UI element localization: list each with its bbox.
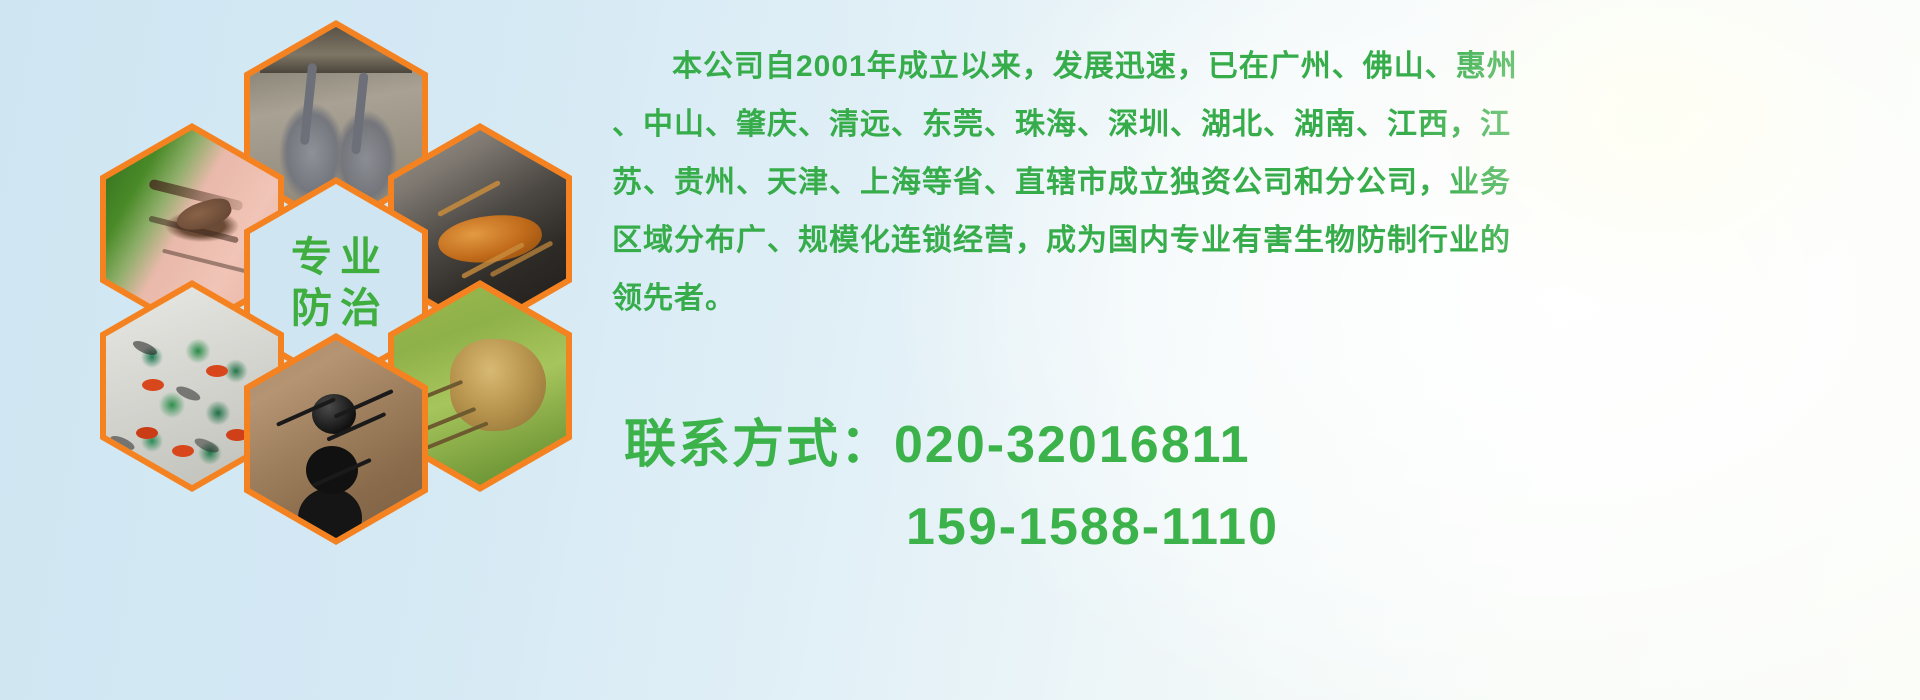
contact-phone-primary[interactable]: 020-32016811 bbox=[894, 416, 1251, 474]
logo-text-line2: 防治 bbox=[283, 288, 389, 329]
contact-secondary-line: 159-1588-1110 bbox=[624, 486, 1914, 568]
about-line-1: 本公司自2001年成立以来，发展迅速，已在广州、佛山、惠州 bbox=[612, 38, 1912, 96]
logo-text-line1: 专业 bbox=[283, 237, 389, 278]
contact-phone-secondary[interactable]: 159-1588-1110 bbox=[906, 498, 1279, 556]
about-line-3: 苏、贵州、天津、上海等省、直辖市成立独资公司和分公司，业务 bbox=[612, 154, 1912, 212]
company-description: 本公司自2001年成立以来，发展迅速，已在广州、佛山、惠州 、中山、肇庆、清远、… bbox=[612, 38, 1912, 328]
hexagon-photo-cluster: 专业 防治 bbox=[86, 6, 586, 546]
ant-image bbox=[250, 340, 422, 538]
pest-control-banner: 专业 防治 本公司自2001年成立以来，发展迅速，已在广州、佛山、惠州 bbox=[0, 0, 1920, 700]
contact-primary-line: 联系方式：020-32016811 bbox=[624, 404, 1914, 486]
hex-photo-ant-inner bbox=[250, 340, 422, 538]
contact-label: 联系方式： bbox=[624, 416, 894, 474]
about-line-4: 区域分布广、规模化连锁经营，成为国内专业有害生物防制行业的 bbox=[612, 212, 1912, 270]
about-line-5: 领先者。 bbox=[612, 270, 1912, 328]
about-line-2: 、中山、肇庆、清远、东莞、珠海、深圳、湖北、湖南、江西，江 bbox=[612, 96, 1912, 154]
contact-block: 联系方式：020-32016811 159-1588-1110 bbox=[624, 404, 1914, 568]
